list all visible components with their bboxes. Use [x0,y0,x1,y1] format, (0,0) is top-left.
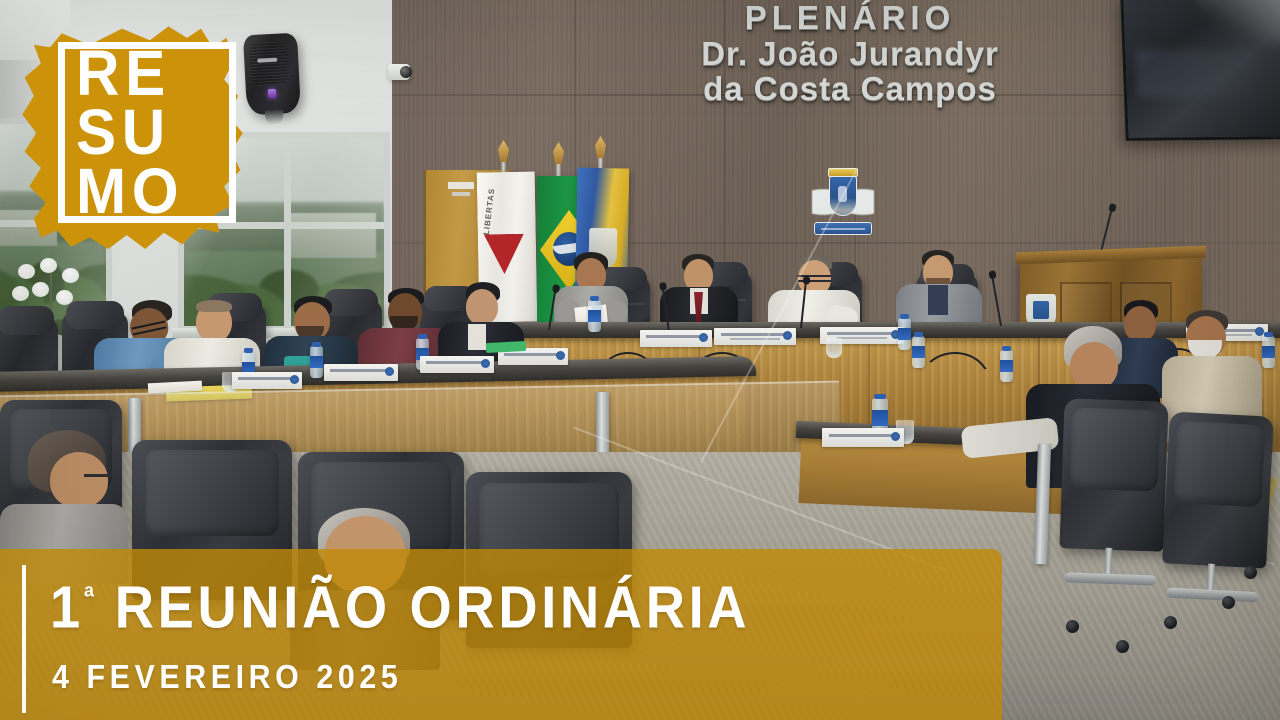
chair-caster [1116,640,1129,653]
nameplate [232,372,302,389]
office-chair [1059,398,1168,552]
nameplate-text [646,335,707,338]
nameplate-text [238,377,297,380]
water-bottle [898,318,911,350]
flag-motto: LIBERTAS [482,187,534,240]
chair-column [1104,548,1112,576]
nameplate [324,364,398,381]
person-head [1070,342,1118,390]
bottle-cap [874,394,886,399]
nameplate-seal [481,359,490,368]
nameplate-text [829,434,898,437]
bottle-label [588,310,601,323]
microphone-head [988,270,996,279]
nameplate-text [721,333,790,336]
person-shirt [928,285,948,315]
person-shirt [468,324,486,350]
person-hair [196,300,232,312]
orchid-bloom [18,264,35,279]
nameplate-text [426,361,488,364]
orchid-bloom [62,268,79,283]
camera-lens [400,66,412,78]
chair-caster [1244,566,1257,579]
plaque-line-3: da Costa Campos [640,71,1060,107]
microphone-head [659,282,667,291]
banner-divider [22,565,26,713]
bottle-cap [244,348,253,353]
bottle-cap [1002,346,1011,351]
nameplate-subtext [730,338,779,340]
municipal-coat-of-arms [812,168,874,238]
nameplate [640,330,712,347]
orchid-bloom [40,258,57,273]
nameplate-seal [891,432,900,441]
wall-monitor-icon [1120,0,1280,141]
bottle-label [898,328,911,341]
bottle-cap [900,314,909,319]
nameplate-seal [290,375,299,384]
monitor-glare [1135,48,1256,97]
bottle-cap [312,342,321,347]
office-chair [1162,411,1274,568]
meeting-title: 1ª REUNIÃO ORDINÁRIA [50,568,750,638]
bottle-cap [590,296,599,301]
bottle-cap [418,334,427,339]
chair-caster [1164,616,1177,629]
bottle-cap [914,332,923,337]
water-bottle [310,346,323,378]
door-plate [448,182,474,189]
chair-column [1206,564,1214,592]
monitor-glare [1196,0,1280,46]
chair-caster [1222,596,1235,609]
water-bottle [588,300,601,332]
chair-headrest [0,306,54,335]
green-marker [486,341,526,353]
nameplate-text [504,353,563,356]
resumo-label: RE SU MO [76,44,292,221]
screenshot-stage: PLENÁRIO Dr. João Jurandyr da Costa Camp… [0,0,1280,720]
orchid-bloom [32,282,49,297]
microphone-head [802,276,810,285]
plaque-line-1: PLENÁRIO [640,0,1060,36]
bottle-label [912,346,925,359]
nameplate-seal [699,333,708,342]
nameplate [822,428,904,447]
nameplate [714,328,796,345]
nameplate-text [330,369,392,372]
water-bottle [912,336,925,368]
drinking-glass [826,338,842,358]
resumo-line-2: SU [76,103,292,162]
resumo-line-1: RE [76,44,292,103]
eyeglasses-icon [84,474,112,482]
bottle-label [310,356,323,369]
chair-cushion [145,450,279,536]
nameplate [420,356,494,373]
water-bottle [1000,350,1013,382]
door-plate [452,192,470,196]
bottle-label [872,410,888,426]
nameplate-seal [385,367,394,376]
meeting-title-text: REUNIÃO ORDINÁRIA [115,575,751,641]
orchid-bloom [12,286,29,301]
meeting-date: 4 FEVEREIRO 2025 [52,660,402,694]
resumo-line-3: MO [76,162,292,221]
chair-cushion [1174,421,1266,508]
nameplate-seal [783,331,792,340]
plaque-line-2: Dr. João Jurandyr [640,36,1060,72]
nameplate-seal [556,351,565,360]
nameplate-subtext [837,337,887,339]
chair-cushion [1070,408,1160,492]
meeting-ordinal-number: 1 [50,575,84,641]
plenary-wall-plaque: PLENÁRIO Dr. João Jurandyr da Costa Camp… [640,0,1060,107]
chair-caster [1066,620,1079,633]
bottle-label [1000,360,1013,373]
person-head [466,289,498,325]
nameplate-text [827,332,898,335]
microphone-head [551,284,559,293]
security-camera-icon [388,64,410,80]
meeting-ordinal-suffix: ª [84,581,96,614]
